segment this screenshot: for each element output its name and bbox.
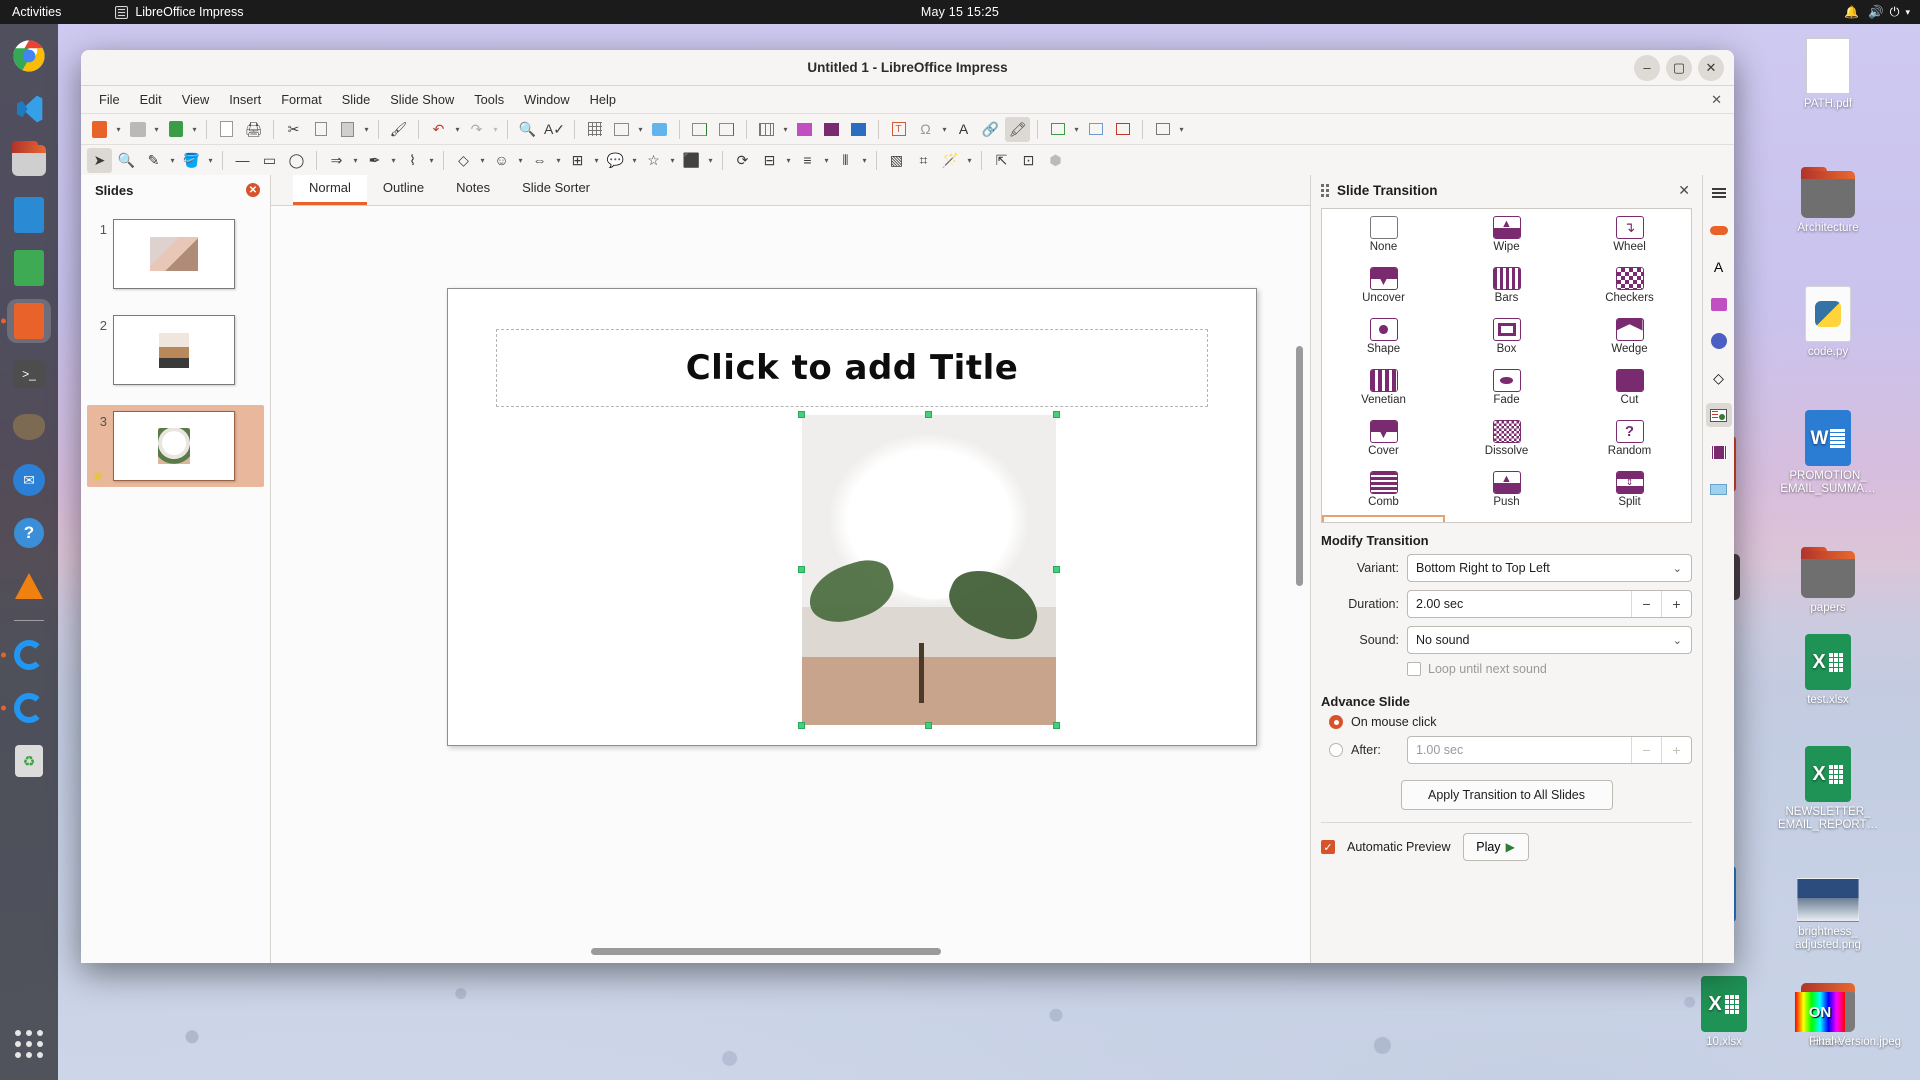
bars-icon — [1493, 267, 1521, 290]
transition-push[interactable]: ▲ Push — [1445, 464, 1568, 515]
basic-shapes-icon[interactable]: ◇ — [451, 148, 476, 173]
desktop-icon-label: PATH.pdf — [1776, 98, 1880, 111]
transition-box[interactable]: Box — [1445, 311, 1568, 362]
dock-item-trash[interactable]: ♻ — [7, 739, 51, 783]
curve-icon[interactable]: ✒ — [362, 148, 387, 173]
chevron-down-icon[interactable]: ⌄ — [1673, 634, 1682, 647]
running-indicator — [1, 319, 6, 324]
excel-file-icon: X — [1776, 742, 1880, 802]
slide-preview[interactable] — [113, 219, 235, 289]
main-edit-area: Normal Outline Notes Slide Sorter Click … — [271, 175, 1310, 963]
toggle-extrusion-icon[interactable]: ⬢ — [1043, 148, 1068, 173]
automatic-preview-label: Automatic Preview — [1347, 840, 1451, 854]
table-icon[interactable] — [754, 117, 779, 142]
tab-normal[interactable]: Normal — [293, 175, 367, 205]
transition-bars[interactable]: Bars — [1445, 260, 1568, 311]
chevron-down-icon[interactable]: ▾ — [190, 118, 199, 140]
tab-notes[interactable]: Notes — [440, 175, 506, 205]
chevron-down-icon[interactable]: ▾ — [592, 149, 601, 171]
dock-item-gimp[interactable] — [7, 405, 51, 449]
desktop-icon-label: test.xlsx — [1776, 694, 1880, 707]
canvas-area[interactable]: Click to add Title — [271, 206, 1310, 963]
window-title: Untitled 1 - LibreOffice Impress — [807, 60, 1007, 75]
dock-item-sync-2[interactable] — [7, 686, 51, 730]
zoom-icon[interactable]: 🔍 — [114, 148, 139, 173]
sidebar-settings-icon[interactable] — [1706, 181, 1732, 205]
transition-label: Cover — [1368, 445, 1399, 457]
slides-list[interactable]: 1 2 3 ★ — [81, 205, 270, 963]
dock-item-show-apps[interactable] — [7, 1022, 51, 1066]
magnolia-flower-image[interactable] — [802, 415, 1056, 725]
chevron-down-icon[interactable]: ▾ — [636, 118, 645, 140]
toolbar-separator — [206, 120, 207, 139]
transition-shape[interactable]: ✛ Shape — [1322, 311, 1445, 362]
menu-slide-show[interactable]: Slide Show — [380, 89, 464, 110]
flower-photo — [158, 428, 190, 464]
new-slide-icon[interactable] — [1045, 117, 1070, 142]
display-grid-icon[interactable] — [582, 117, 607, 142]
grip-icon[interactable] — [1321, 184, 1329, 197]
display-views-icon[interactable] — [647, 117, 672, 142]
tab-slide-sorter[interactable]: Slide Sorter — [506, 175, 606, 205]
transition-random[interactable]: ? Random — [1568, 413, 1691, 464]
fill-color-icon[interactable]: 🪣 — [179, 148, 204, 173]
scrollbar-thumb[interactable] — [1296, 346, 1303, 586]
copy-icon[interactable] — [308, 117, 333, 142]
desktop-icon-brightness-adjusted[interactable]: brightness_ adjusted.png — [1776, 862, 1880, 952]
animation-icon[interactable] — [1706, 440, 1732, 464]
advance-after-row: After: 1.00 sec − + — [1329, 736, 1692, 764]
slide-properties-icon[interactable] — [1150, 117, 1175, 142]
desktop-icon-architecture[interactable]: Architecture — [1776, 158, 1880, 235]
transition-venetian[interactable]: Venetian — [1322, 362, 1445, 413]
chevron-down-icon[interactable]: ▾ — [860, 149, 869, 171]
transition-label: Bars — [1495, 292, 1519, 304]
slide-canvas[interactable]: Click to add Title — [447, 288, 1257, 746]
properties-icon[interactable] — [1706, 218, 1732, 242]
transition-star-icon[interactable]: ★ — [91, 467, 104, 485]
duration-decrement-button[interactable]: − — [1631, 591, 1661, 617]
resize-handle-sw[interactable] — [798, 722, 805, 729]
play-button[interactable]: Play ▶ — [1463, 833, 1529, 861]
shapes-icon[interactable]: ◇ — [1706, 366, 1732, 390]
menu-tools[interactable]: Tools — [464, 89, 514, 110]
volume-icon[interactable]: 🔊 — [1868, 5, 1884, 20]
advance-on-click-row[interactable]: On mouse click — [1329, 715, 1692, 729]
after-radio[interactable] — [1329, 743, 1343, 757]
align-icon[interactable]: ⊟ — [757, 148, 782, 173]
close-icon[interactable]: ✕ — [1678, 182, 1690, 199]
gimp-icon — [13, 414, 45, 440]
transition-label: Wedge — [1611, 343, 1647, 355]
slide-thumbnail-1[interactable]: 1 — [87, 213, 264, 295]
block-arrows-icon[interactable]: ⇔ — [527, 148, 552, 173]
ubuntu-dock[interactable]: >_ ✉ ? ♻ — [0, 24, 58, 1080]
slide-thumbnail-3[interactable]: 3 ★ — [87, 405, 264, 487]
apply-transition-to-all-slides-button[interactable]: Apply Transition to All Slides — [1401, 780, 1613, 810]
start-from-current-slide-icon[interactable] — [714, 117, 739, 142]
open-icon[interactable] — [125, 117, 150, 142]
deck-title: Slide Transition — [1337, 183, 1438, 198]
toolbar-separator — [722, 151, 723, 170]
chevron-down-icon[interactable]: ▾ — [822, 149, 831, 171]
transition-fade[interactable]: Fade — [1445, 362, 1568, 413]
shape-icon: ✛ — [1370, 318, 1398, 341]
dock-item-google-chrome[interactable] — [7, 34, 51, 78]
dock-item-terminal[interactable]: >_ — [7, 352, 51, 396]
toolbar-separator — [876, 151, 877, 170]
tab-outline[interactable]: Outline — [367, 175, 440, 205]
toolbar-separator — [1142, 120, 1143, 139]
duration-value: 2.00 sec — [1416, 597, 1463, 611]
desktop-icon-code-py[interactable]: code.py — [1776, 282, 1880, 359]
slides-panel: Slides ✕ 1 2 3 ★ — [81, 175, 271, 963]
transitions-list[interactable]: None ▲ Wipe ↴ Wheel ▼ Uncover — [1321, 208, 1692, 523]
desktop-icon-label: code.py — [1776, 346, 1880, 359]
menu-slide[interactable]: Slide — [332, 89, 380, 110]
duplicate-slide-icon[interactable] — [1083, 117, 1108, 142]
calc-icon — [14, 250, 44, 286]
transition-diagonal[interactable]: Diagonal — [1322, 515, 1445, 523]
system-top-bar: Activities LibreOffice Impress May 15 15… — [0, 0, 1920, 24]
chevron-down-icon[interactable]: ▾ — [784, 149, 793, 171]
toolbar-separator — [878, 120, 879, 139]
sidebar-rail[interactable]: A ◇ — [1702, 175, 1734, 963]
toolbar-separator — [316, 151, 317, 170]
drawing-toolbar[interactable]: ➤ 🔍 ✎ ▾ 🪣 ▾ — ▭ ◯ ⇒ ▾ ✒ ▾ ⌇ ▾ ◇ ▾ ☺ ▾ ⇔ … — [81, 144, 1734, 175]
modify-transition-heading: Modify Transition — [1321, 533, 1692, 548]
toolbar-separator — [378, 120, 379, 139]
insert-chart-icon[interactable] — [846, 117, 871, 142]
menu-insert[interactable]: Insert — [219, 89, 271, 110]
title-placeholder-text: Click to add Title — [686, 348, 1019, 388]
styles-icon[interactable]: A — [1706, 255, 1732, 279]
chevron-down-icon[interactable]: ▾ — [940, 118, 949, 140]
resize-handle-ne[interactable] — [1053, 411, 1060, 418]
resize-handle-se[interactable] — [1053, 722, 1060, 729]
transition-label: Wheel — [1613, 241, 1646, 253]
chevron-down-icon[interactable]: ▾ — [1072, 118, 1081, 140]
stars-icon[interactable]: ☆ — [641, 148, 666, 173]
dock-item-files[interactable] — [7, 140, 51, 184]
transition-label: Shape — [1367, 343, 1400, 355]
export-pdf-icon[interactable] — [214, 117, 239, 142]
close-document-button[interactable]: ✕ — [1711, 92, 1722, 108]
thunderbird-icon: ✉ — [13, 464, 45, 496]
slide-thumbnail-2[interactable]: 2 — [87, 309, 264, 391]
active-app-label: LibreOffice Impress — [135, 5, 243, 19]
save-icon[interactable] — [163, 117, 188, 142]
slide-preview[interactable] — [113, 315, 235, 385]
dock-item-libreoffice-writer[interactable] — [7, 193, 51, 237]
chevron-down-icon[interactable]: ▾ — [427, 149, 436, 171]
after-duration-value: 1.00 sec — [1416, 743, 1463, 757]
show-draw-functions-icon[interactable]: 🖍 — [1005, 117, 1030, 142]
shadow-icon[interactable]: ▧ — [884, 148, 909, 173]
after-decrement-button[interactable]: − — [1631, 737, 1661, 763]
chevron-down-icon[interactable]: ▾ — [389, 149, 398, 171]
close-button[interactable]: ✕ — [1698, 55, 1724, 81]
transition-label: Uncover — [1362, 292, 1405, 304]
desktop-icon-final-version-jpeg[interactable]: ON Final-Version.jpeg — [1655, 972, 1845, 1049]
after-increment-button[interactable]: + — [1661, 737, 1691, 763]
transition-dissolve[interactable]: Dissolve — [1445, 413, 1568, 464]
transition-uncover[interactable]: ▼ Uncover — [1322, 260, 1445, 311]
vscode-icon — [13, 93, 45, 125]
toolbar-separator — [222, 151, 223, 170]
hyperlink-icon[interactable]: 🔗 — [978, 117, 1003, 142]
resize-handle-e[interactable] — [1053, 566, 1060, 573]
transition-label: Wipe — [1493, 241, 1519, 253]
insert-special-character-icon[interactable]: Ω — [913, 117, 938, 142]
transition-label: None — [1370, 241, 1398, 253]
loop-label: Loop until next sound — [1428, 662, 1547, 676]
vertical-scrollbar[interactable] — [1296, 346, 1305, 666]
chevron-down-icon[interactable]: ▾ — [362, 118, 371, 140]
callout-shapes-icon[interactable]: 💬 — [603, 148, 628, 173]
dock-item-sync-1[interactable] — [7, 633, 51, 677]
chevron-down-icon[interactable]: ▾ — [1905, 7, 1910, 18]
transition-wedge[interactable]: Wedge — [1568, 311, 1691, 362]
transition-none[interactable]: None — [1322, 209, 1445, 260]
symbol-shapes-icon[interactable]: ☺ — [489, 148, 514, 173]
transition-label: Comb — [1368, 496, 1399, 508]
checkers-icon — [1616, 267, 1644, 290]
cut-icon[interactable]: ✂ — [281, 117, 306, 142]
folder-icon — [1776, 538, 1880, 598]
transition-checkers[interactable]: Checkers — [1568, 260, 1691, 311]
chevron-down-icon[interactable]: ▾ — [206, 149, 215, 171]
clock[interactable]: May 15 15:25 — [921, 5, 999, 19]
chevron-down-icon[interactable]: ▾ — [114, 118, 123, 140]
minimize-button[interactable]: – — [1634, 55, 1660, 81]
desktop-icon-label: brightness_ adjusted.png — [1776, 926, 1880, 952]
transition-cover[interactable]: ▼ Cover — [1322, 413, 1445, 464]
desktop-icon-test-xlsx[interactable]: X test.xlsx — [1776, 630, 1880, 707]
help-icon: ? — [14, 518, 44, 548]
chevron-down-icon[interactable]: ▾ — [1177, 118, 1186, 140]
start-from-first-slide-icon[interactable] — [687, 117, 712, 142]
dock-item-vlc[interactable] — [7, 564, 51, 608]
transition-split[interactable]: ⇕ Split — [1568, 464, 1691, 515]
active-app-indicator[interactable]: LibreOffice Impress — [115, 5, 243, 19]
rectangle-icon[interactable]: ▭ — [257, 148, 282, 173]
select-icon[interactable]: ➤ — [87, 148, 112, 173]
crop-image-icon[interactable]: ⌗ — [911, 148, 936, 173]
connector-icon[interactable]: ⌇ — [400, 148, 425, 173]
wedge-icon — [1616, 318, 1644, 341]
transition-cut[interactable]: Cut — [1568, 362, 1691, 413]
automatic-preview-checkbox[interactable]: ✓ — [1321, 840, 1335, 854]
chevron-down-icon[interactable]: ▾ — [554, 149, 563, 171]
bell-icon[interactable]: 🔔 — [1844, 5, 1859, 19]
transition-label: Venetian — [1361, 394, 1406, 406]
sound-select[interactable]: No sound ⌄ — [1407, 626, 1692, 654]
undo-icon[interactable]: ↶ — [426, 117, 451, 142]
chevron-down-icon[interactable]: ▾ — [491, 118, 500, 140]
transition-wipe[interactable]: ▲ Wipe — [1445, 209, 1568, 260]
horizontal-scrollbar[interactable] — [271, 948, 1310, 957]
chevron-down-icon[interactable]: ▾ — [516, 149, 525, 171]
chevron-down-icon[interactable]: ▾ — [965, 149, 974, 171]
flower-stem — [919, 643, 924, 703]
dock-item-thunderbird[interactable]: ✉ — [7, 458, 51, 502]
paste-icon[interactable] — [335, 117, 360, 142]
scrollbar-thumb[interactable] — [591, 948, 941, 955]
variant-row: Variant: Bottom Right to Top Left ⌄ — [1321, 554, 1692, 582]
menu-bar[interactable]: File Edit View Insert Format Slide Slide… — [81, 86, 1734, 113]
resize-handle-n[interactable] — [925, 411, 932, 418]
chevron-down-icon[interactable]: ▾ — [630, 149, 639, 171]
desktop-icon-path-pdf[interactable]: PATH.pdf — [1776, 34, 1880, 111]
master-slide-icon[interactable] — [609, 117, 634, 142]
desktop-icon-newsletter-report[interactable]: X NEWSLETTER_ EMAIL_REPORT… — [1776, 742, 1880, 832]
flowchart-icon[interactable]: ⊞ — [565, 148, 590, 173]
slides-panel-header: Slides ✕ — [81, 175, 270, 205]
menu-window[interactable]: Window — [514, 89, 580, 110]
menu-file[interactable]: File — [89, 89, 130, 110]
duration-increment-button[interactable]: + — [1661, 591, 1691, 617]
insert-fontwork-icon[interactable]: A — [951, 117, 976, 142]
resize-handle-w[interactable] — [798, 566, 805, 573]
slide-preview[interactable] — [113, 411, 235, 481]
resize-handle-s[interactable] — [925, 722, 932, 729]
standard-toolbar[interactable]: ▾ ▾ ▾ 🖨 ✂ ▾ 🖌 ↶ ▾ ↷ ▾ 🔍 A✓ ▾ — [81, 113, 1734, 144]
fade-icon — [1493, 369, 1521, 392]
desktop-icon-label: NEWSLETTER_ EMAIL_REPORT… — [1776, 806, 1880, 832]
title-placeholder[interactable]: Click to add Title — [496, 329, 1208, 407]
chevron-down-icon[interactable]: ▾ — [453, 118, 462, 140]
glue-points-icon[interactable]: ⊡ — [1016, 148, 1041, 173]
rotate-icon[interactable]: ⟳ — [730, 148, 755, 173]
running-indicator — [1, 653, 6, 658]
transition-wheel[interactable]: ↴ Wheel — [1568, 209, 1691, 260]
3d-objects-icon[interactable]: ⬛ — [679, 148, 704, 173]
power-icon[interactable]: ⏻ — [1890, 5, 1900, 20]
sync-icon — [14, 693, 44, 723]
transition-label: Box — [1497, 343, 1517, 355]
on-mouse-click-radio[interactable] — [1329, 715, 1343, 729]
close-icon[interactable]: ✕ — [246, 183, 260, 197]
after-duration-spinner[interactable]: 1.00 sec − + — [1407, 736, 1692, 764]
slides-panel-title: Slides — [95, 183, 133, 198]
spelling-icon[interactable]: A✓ — [542, 117, 567, 142]
chevron-down-icon[interactable]: ▾ — [781, 118, 790, 140]
line-color-icon[interactable]: ✎ — [141, 148, 166, 173]
desktop-icon-promotion-email[interactable]: W PROMOTION_ EMAIL_SUMMA… — [1776, 406, 1880, 496]
ellipse-icon[interactable]: ◯ — [284, 148, 309, 173]
wipe-icon: ▲ — [1493, 216, 1521, 239]
desktop-icon-papers[interactable]: papers — [1776, 538, 1880, 615]
transition-label: Split — [1618, 496, 1640, 508]
menu-view[interactable]: View — [172, 89, 220, 110]
chevron-down-icon[interactable]: ▾ — [152, 118, 161, 140]
menu-format[interactable]: Format — [271, 89, 332, 110]
chevron-down-icon[interactable]: ▾ — [478, 149, 487, 171]
maximize-button[interactable]: ▢ — [1666, 55, 1692, 81]
duration-label: Duration: — [1321, 597, 1399, 611]
loop-until-next-sound-row[interactable]: Loop until next sound — [1407, 662, 1692, 676]
transition-tiles[interactable]: Tiles — [1445, 515, 1568, 523]
transition-cube[interactable]: Cube — [1568, 515, 1691, 523]
diagonal-icon — [1370, 522, 1398, 523]
distribute-icon[interactable]: ⦀ — [833, 148, 858, 173]
system-tray[interactable]: 🔔 🔊 ⏻ ▾ — [1844, 5, 1910, 20]
insert-text-box-icon[interactable]: T — [886, 117, 911, 142]
toolbar-separator — [443, 151, 444, 170]
loop-checkbox[interactable] — [1407, 662, 1421, 676]
navigator-icon[interactable] — [1706, 329, 1732, 353]
activities-button[interactable]: Activities — [12, 5, 61, 19]
print-icon[interactable]: 🖨 — [241, 117, 266, 142]
chevron-down-icon[interactable]: ⌄ — [1673, 562, 1682, 575]
word-file-icon: W — [1776, 406, 1880, 466]
cover-icon: ▼ — [1370, 420, 1398, 443]
window-controls[interactable]: – ▢ ✕ — [1634, 55, 1724, 81]
cube-icon — [1616, 522, 1644, 523]
window-titlebar[interactable]: Untitled 1 - LibreOffice Impress – ▢ ✕ — [81, 50, 1734, 86]
arrange-icon[interactable]: ≡ — [795, 148, 820, 173]
redo-icon[interactable]: ↷ — [464, 117, 489, 142]
dock-item-libreoffice-calc[interactable] — [7, 246, 51, 290]
chevron-down-icon[interactable]: ▾ — [351, 149, 360, 171]
comb-icon — [1370, 471, 1398, 494]
variant-select[interactable]: Bottom Right to Top Left ⌄ — [1407, 554, 1692, 582]
play-label: Play — [1476, 840, 1500, 854]
find-replace-icon[interactable]: 🔍 — [515, 117, 540, 142]
toolbar-separator — [1037, 120, 1038, 139]
clone-formatting-icon[interactable]: 🖌 — [386, 117, 411, 142]
chevron-down-icon[interactable]: ▾ — [168, 149, 177, 171]
dock-item-libreoffice-impress[interactable] — [7, 299, 51, 343]
chevron-down-icon[interactable]: ▾ — [706, 149, 715, 171]
dock-item-vs-code[interactable] — [7, 87, 51, 131]
duration-spinner[interactable]: 2.00 sec − + — [1407, 590, 1692, 618]
new-document-icon[interactable] — [87, 117, 112, 142]
menu-edit[interactable]: Edit — [130, 89, 172, 110]
menu-help[interactable]: Help — [580, 89, 626, 110]
desktop-icon-label: Final-Version.jpeg — [1795, 1036, 1915, 1049]
transition-comb[interactable]: Comb — [1322, 464, 1445, 515]
insert-audio-video-icon[interactable] — [819, 117, 844, 142]
points-icon[interactable]: ⇱ — [989, 148, 1014, 173]
terminal-icon: >_ — [13, 360, 45, 388]
toolbar-separator — [679, 120, 680, 139]
delete-slide-icon[interactable] — [1110, 117, 1135, 142]
chevron-down-icon[interactable]: ▾ — [668, 149, 677, 171]
slide-number: 3 — [91, 411, 107, 429]
slide-transition-icon[interactable] — [1706, 403, 1732, 427]
transition-label: Cut — [1621, 394, 1639, 406]
master-slides-icon[interactable] — [1706, 477, 1732, 501]
filter-icon[interactable]: 🪄 — [938, 148, 963, 173]
slide-number: 2 — [91, 315, 107, 333]
dock-item-help[interactable]: ? — [7, 511, 51, 555]
resize-handle-nw[interactable] — [798, 411, 805, 418]
insert-image-icon[interactable] — [792, 117, 817, 142]
line-icon[interactable]: — — [230, 148, 255, 173]
uncover-icon: ▼ — [1370, 267, 1398, 290]
view-tabs[interactable]: Normal Outline Notes Slide Sorter — [271, 175, 1310, 206]
cut-icon — [1616, 369, 1644, 392]
transition-label: Fade — [1493, 394, 1519, 406]
arrow-icon[interactable]: ⇒ — [324, 148, 349, 173]
show-applications-icon — [15, 1030, 43, 1058]
gallery-icon[interactable] — [1706, 292, 1732, 316]
sound-value: No sound — [1416, 633, 1470, 647]
pdf-file-icon — [1776, 34, 1880, 94]
push-icon: ▲ — [1493, 471, 1521, 494]
